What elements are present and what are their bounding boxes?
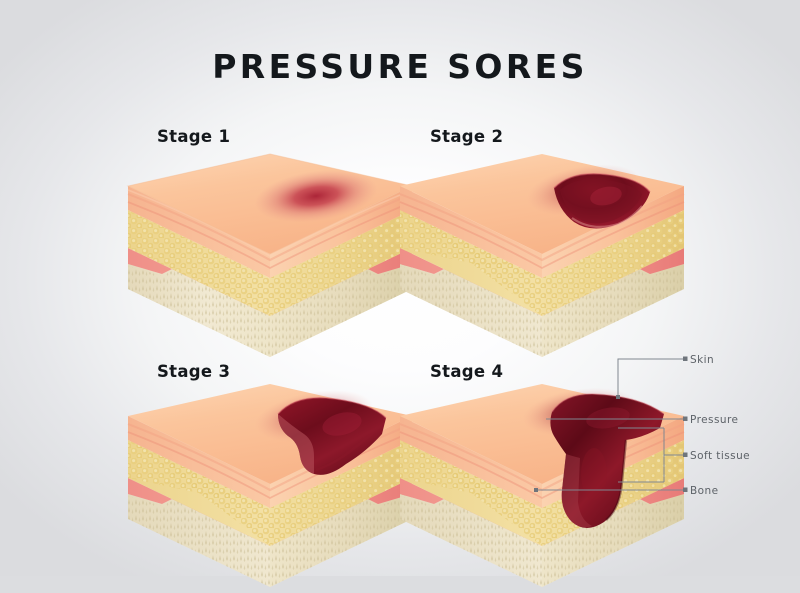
annotation-label-soft-tissue: Soft tissue (690, 450, 750, 462)
stage-1-label: Stage 1 (157, 127, 230, 146)
illustration-canvas: PRESSURE SORES Stage 1 (0, 0, 800, 576)
annotation-label-bone: Bone (690, 485, 719, 497)
stage-2-label: Stage 2 (430, 127, 503, 146)
skin-block-stage-3 (120, 378, 420, 593)
skin-block-stage-2 (392, 148, 692, 363)
annotation-label-skin: Skin (690, 354, 714, 366)
skin-leader-line (618, 359, 686, 397)
annotation-callouts: Skin Pressure Soft tissue Bone (600, 340, 800, 520)
bone-end-dot (534, 488, 538, 492)
skin-end-dot (616, 395, 620, 399)
stage-3-diagram (120, 378, 420, 593)
skin-dot (683, 357, 688, 362)
page-title: PRESSURE SORES (0, 47, 800, 86)
bone-dot (683, 488, 688, 493)
soft-tissue-dot (683, 453, 688, 458)
annotation-label-pressure: Pressure (690, 414, 738, 426)
skin-block-stage-1 (120, 148, 420, 363)
pressure-dot (683, 417, 688, 422)
stage-1-diagram (120, 148, 420, 363)
stage-2-diagram (392, 148, 692, 363)
